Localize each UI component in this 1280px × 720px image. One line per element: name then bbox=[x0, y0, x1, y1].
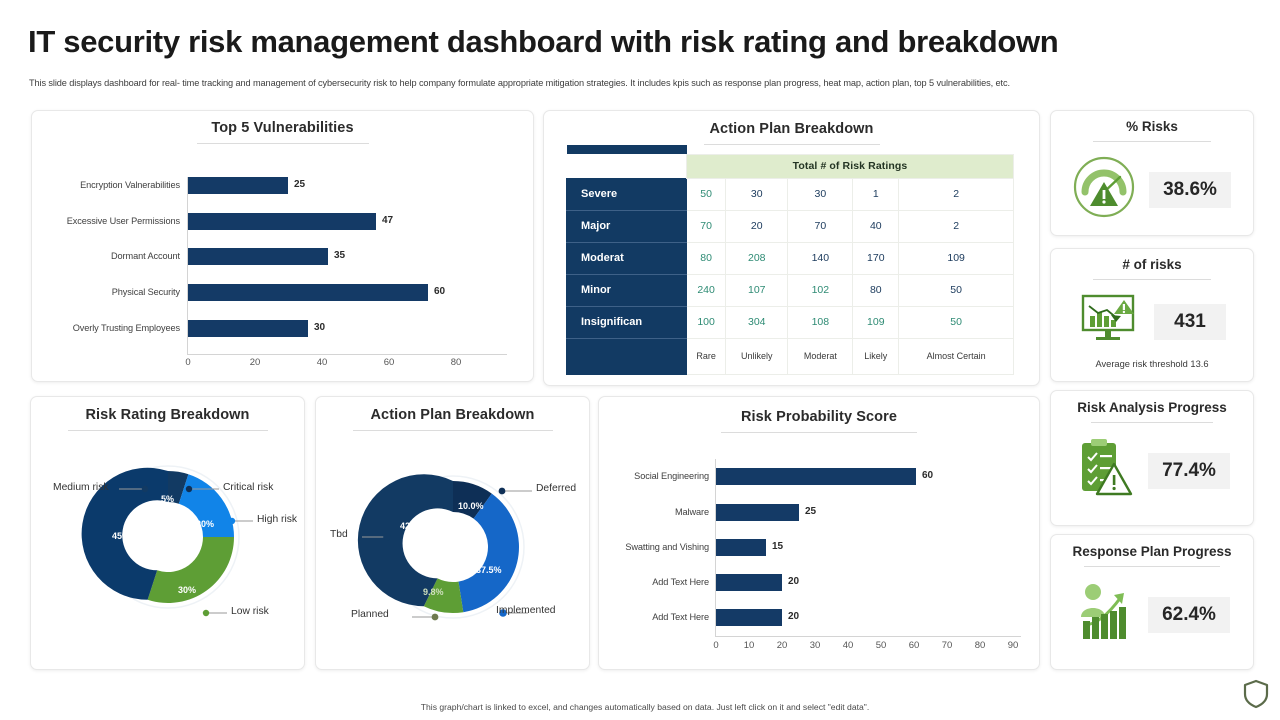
chart-top-5-vulnerabilities: Encryption Valnerabilities 25 Excessive … bbox=[32, 111, 535, 383]
cell-insignifican-unlikely: 304 bbox=[726, 306, 788, 338]
cell-severe-moderat: 30 bbox=[788, 178, 853, 210]
bar-value-4: 20 bbox=[788, 611, 799, 622]
bar-value-1: 47 bbox=[382, 215, 393, 226]
bar-label-4: Add Text Here bbox=[599, 612, 709, 622]
col-label-rare: Rare bbox=[687, 338, 726, 374]
table-row: Major 70 20 70 40 2 bbox=[567, 210, 1014, 242]
donut-label-critical-risk: Critical risk bbox=[223, 482, 273, 493]
x-tick-4: 80 bbox=[441, 357, 471, 368]
bar-value-2: 35 bbox=[334, 250, 345, 261]
bar-3 bbox=[188, 284, 428, 301]
x-tick-0: 0 bbox=[702, 640, 730, 651]
kpi-sub-number-of-risks: Average risk threshold 13.6 bbox=[1051, 359, 1253, 369]
col-label-unlikely: Unlikely bbox=[726, 338, 788, 374]
cell-severe-unlikely: 30 bbox=[726, 178, 788, 210]
bar-value-2: 15 bbox=[772, 541, 783, 552]
bar-4 bbox=[716, 609, 782, 626]
x-tick-8: 80 bbox=[966, 640, 994, 651]
card-top-5-vulnerabilities: Top 5 Vulnerabilities Encryption Valnera… bbox=[31, 110, 534, 382]
donut-pct-implemented: 37.5% bbox=[476, 565, 502, 575]
bar-2 bbox=[188, 248, 328, 265]
clipboard-warning-icon bbox=[1074, 437, 1134, 504]
donut-pct-high-risk: 20% bbox=[196, 519, 214, 529]
cell-insignifican-moderat: 108 bbox=[788, 306, 853, 338]
bar-label-0: Social Engineering bbox=[599, 471, 709, 481]
card-kpi-risk-analysis-progress: Risk Analysis Progress 77.4% bbox=[1050, 390, 1254, 526]
row-label-major: Major bbox=[567, 210, 687, 242]
row-label-insignifican: Insignifican bbox=[567, 306, 687, 338]
dashboard-slide: IT security risk management dashboard wi… bbox=[0, 0, 1280, 720]
x-tick-1: 10 bbox=[735, 640, 763, 651]
donut-label-tbd: Tbd bbox=[330, 529, 348, 540]
x-tick-6: 60 bbox=[900, 640, 928, 651]
x-tick-3: 60 bbox=[374, 357, 404, 368]
bar-value-3: 20 bbox=[788, 576, 799, 587]
header-corner-cell bbox=[567, 154, 687, 178]
cell-moderat-almost-certain: 109 bbox=[899, 242, 1014, 274]
donut-pct-planned: 9.8% bbox=[423, 587, 444, 597]
bar-1 bbox=[716, 504, 799, 521]
x-tick-5: 50 bbox=[867, 640, 895, 651]
x-tick-0: 0 bbox=[173, 357, 203, 368]
x-axis-line bbox=[715, 636, 1021, 637]
table-row: Severe 50 30 30 1 2 bbox=[567, 178, 1014, 210]
bar-2 bbox=[716, 539, 766, 556]
table-row: Moderat 80 208 140 170 109 bbox=[567, 242, 1014, 274]
donut-label-deferred: Deferred bbox=[536, 483, 576, 494]
card-action-plan-table: Action Plan Breakdown Total # of Risk Ra… bbox=[543, 110, 1040, 386]
col-label-moderat: Moderat bbox=[788, 338, 853, 374]
bar-value-0: 60 bbox=[922, 470, 933, 481]
risk-ratings-table: Total # of Risk Ratings Severe 50 30 30 … bbox=[566, 145, 1014, 375]
table-row: Minor 240 107 102 80 50 bbox=[567, 274, 1014, 306]
x-tick-4: 40 bbox=[834, 640, 862, 651]
x-tick-1: 20 bbox=[240, 357, 270, 368]
col-label-likely: Likely bbox=[853, 338, 899, 374]
bar-label-3: Physical Security bbox=[32, 287, 180, 297]
kpi-title-response-plan-progress: Response Plan Progress bbox=[1051, 544, 1253, 559]
monitor-chart-icon bbox=[1078, 292, 1140, 351]
bar-value-4: 30 bbox=[314, 322, 325, 333]
bar-3 bbox=[716, 574, 782, 591]
x-tick-9: 90 bbox=[999, 640, 1027, 651]
row-label-severe: Severe bbox=[567, 178, 687, 210]
kpi-value-risk-analysis-progress: 77.4% bbox=[1148, 453, 1230, 489]
bar-value-3: 60 bbox=[434, 286, 445, 297]
row-label-minor: Minor bbox=[567, 274, 687, 306]
cell-moderat-moderat: 140 bbox=[788, 242, 853, 274]
card-kpi-percent-risks: % Risks 38.6% bbox=[1050, 110, 1254, 236]
navy-accent-bar bbox=[567, 145, 687, 154]
bar-1 bbox=[188, 213, 376, 230]
page-title: IT security risk management dashboard wi… bbox=[28, 24, 1243, 60]
person-growth-icon bbox=[1074, 581, 1134, 648]
cell-severe-rare: 50 bbox=[687, 178, 726, 210]
bar-label-2: Swatting and Vishing bbox=[599, 542, 709, 552]
shield-icon bbox=[1242, 679, 1270, 714]
gauge-warning-icon bbox=[1073, 156, 1135, 223]
kpi-title-number-of-risks: # of risks bbox=[1051, 257, 1253, 272]
bar-0 bbox=[188, 177, 288, 194]
cell-minor-likely: 80 bbox=[853, 274, 899, 306]
col-label-almost-certain: Almost Certain bbox=[899, 338, 1014, 374]
x-axis-line bbox=[187, 354, 507, 355]
x-tick-7: 70 bbox=[933, 640, 961, 651]
chart-risk-probability-score: Social Engineering 60 Malware 25 Swattin… bbox=[599, 397, 1041, 671]
cell-major-likely: 40 bbox=[853, 210, 899, 242]
donut-pct-low-risk: 30% bbox=[178, 585, 196, 595]
card-risk-probability-score: Risk Probability Score Social Engineerin… bbox=[598, 396, 1040, 670]
cell-minor-unlikely: 107 bbox=[726, 274, 788, 306]
cell-insignifican-likely: 109 bbox=[853, 306, 899, 338]
donut-label-low-risk: Low risk bbox=[231, 606, 269, 617]
page-subtitle: This slide displays dashboard for real- … bbox=[29, 78, 1229, 88]
card-kpi-response-plan-progress: Response Plan Progress 62.4% bbox=[1050, 534, 1254, 670]
kpi-value-response-plan-progress: 62.4% bbox=[1148, 597, 1230, 633]
card-kpi-number-of-risks: # of risks 431 bbox=[1050, 248, 1254, 382]
cell-insignifican-rare: 100 bbox=[687, 306, 726, 338]
cell-major-unlikely: 20 bbox=[726, 210, 788, 242]
bar-label-0: Encryption Valnerabilities bbox=[32, 180, 180, 190]
bar-value-1: 25 bbox=[805, 506, 816, 517]
bar-label-3: Add Text Here bbox=[599, 577, 709, 587]
cell-moderat-unlikely: 208 bbox=[726, 242, 788, 274]
cell-severe-almost-certain: 2 bbox=[899, 178, 1014, 210]
footer-corner-cell bbox=[567, 338, 687, 374]
navy-accent-spacer bbox=[687, 145, 1014, 154]
chart-risk-rating-breakdown: Medium risk Critical risk High risk Low … bbox=[31, 397, 306, 671]
donut-label-high-risk: High risk bbox=[257, 514, 297, 525]
table-navy-accent-row bbox=[567, 145, 1014, 154]
bar-label-1: Excessive User Permissions bbox=[32, 216, 180, 226]
kpi-title-percent-risks: % Risks bbox=[1051, 119, 1253, 134]
card-risk-rating-breakdown: Risk Rating Breakdown bbox=[30, 396, 305, 670]
cell-minor-moderat: 102 bbox=[788, 274, 853, 306]
cell-major-rare: 70 bbox=[687, 210, 726, 242]
x-tick-2: 40 bbox=[307, 357, 337, 368]
table-header-total: Total # of Risk Ratings bbox=[687, 154, 1014, 178]
bar-label-1: Malware bbox=[599, 507, 709, 517]
bar-value-0: 25 bbox=[294, 179, 305, 190]
cell-moderat-likely: 170 bbox=[853, 242, 899, 274]
cell-major-almost-certain: 2 bbox=[899, 210, 1014, 242]
cell-insignifican-almost-certain: 50 bbox=[899, 306, 1014, 338]
bar-0 bbox=[716, 468, 916, 485]
row-label-moderat: Moderat bbox=[567, 242, 687, 274]
kpi-value-number-of-risks: 431 bbox=[1154, 304, 1226, 340]
kpi-value-percent-risks: 38.6% bbox=[1149, 172, 1231, 208]
cell-moderat-rare: 80 bbox=[687, 242, 726, 274]
x-tick-2: 20 bbox=[768, 640, 796, 651]
table-footer-row: Rare Unlikely Moderat Likely Almost Cert… bbox=[567, 338, 1014, 374]
footer-note: This graph/chart is linked to excel, and… bbox=[360, 702, 930, 712]
donut-pct-deferred: 10.0% bbox=[458, 501, 484, 511]
chart-action-plan-donut: Deferred Tbd Planned Implemented 10.0% 3… bbox=[316, 397, 591, 671]
card-action-plan-donut: Action Plan Breakdown bbox=[315, 396, 590, 670]
cell-severe-likely: 1 bbox=[853, 178, 899, 210]
table-header-row: Total # of Risk Ratings bbox=[567, 154, 1014, 178]
table-row: Insignifican 100 304 108 109 50 bbox=[567, 306, 1014, 338]
donut-label-implemented: Implemented bbox=[496, 605, 556, 616]
donut-label-planned: Planned bbox=[351, 609, 389, 620]
x-tick-3: 30 bbox=[801, 640, 829, 651]
cell-major-moderat: 70 bbox=[788, 210, 853, 242]
table-title-action-plan: Action Plan Breakdown bbox=[544, 121, 1039, 137]
cell-minor-rare: 240 bbox=[687, 274, 726, 306]
donut-pct-tbd: 42.7% bbox=[400, 521, 426, 531]
bar-4 bbox=[188, 320, 308, 337]
donut-label-medium-risk: Medium risk bbox=[53, 482, 109, 493]
cell-minor-almost-certain: 50 bbox=[899, 274, 1014, 306]
donut-pct-medium-risk: 45% bbox=[112, 531, 130, 541]
bar-label-4: Overly Trusting Employees bbox=[32, 323, 180, 333]
kpi-title-risk-analysis-progress: Risk Analysis Progress bbox=[1051, 400, 1253, 415]
bar-label-2: Dormant Account bbox=[32, 251, 180, 261]
donut-pct-critical-risk: 5% bbox=[161, 494, 174, 504]
